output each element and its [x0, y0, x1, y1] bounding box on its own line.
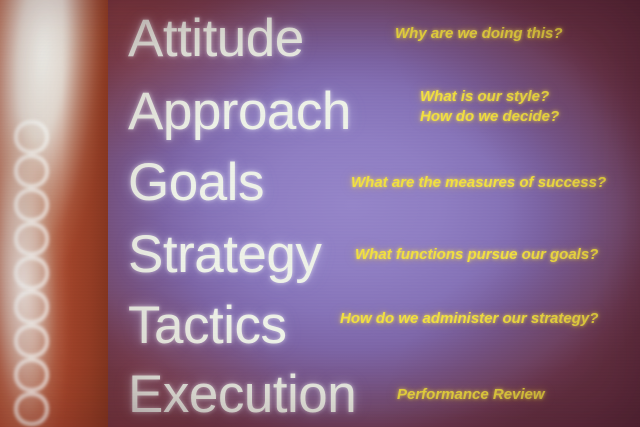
room-wall [0, 0, 112, 427]
caption-line: How do we administer our strategy? [340, 309, 598, 329]
caption-approach: What is our style? How do we decide? [420, 87, 559, 127]
caption-execution: Performance Review [397, 385, 545, 405]
caption-line: What is our style? [420, 87, 559, 107]
headword-tactics: Tactics [128, 299, 286, 352]
wall-chain-highlight [6, 120, 50, 420]
caption-attitude: Why are we doing this? [395, 24, 563, 44]
wall-shadow [62, 0, 114, 427]
caption-tactics: How do we administer our strategy? [340, 309, 598, 329]
headword-attitude: Attitude [128, 12, 304, 65]
caption-line: How do we decide? [420, 107, 559, 127]
headword-goals: Goals [128, 156, 264, 209]
caption-line: Why are we doing this? [395, 24, 563, 44]
caption-line: What are the measures of success? [351, 173, 606, 193]
caption-line: What functions pursue our goals? [355, 245, 598, 265]
slide-photo: Attitude Why are we doing this? Approach… [0, 0, 640, 427]
slide-content: Attitude Why are we doing this? Approach… [108, 0, 640, 427]
headword-strategy: Strategy [128, 228, 321, 281]
caption-goals: What are the measures of success? [351, 173, 606, 193]
headword-approach: Approach [128, 85, 351, 138]
caption-line: Performance Review [397, 385, 545, 405]
caption-strategy: What functions pursue our goals? [355, 245, 598, 265]
projected-slide: Attitude Why are we doing this? Approach… [108, 0, 640, 427]
headword-execution: Execution [128, 368, 356, 421]
